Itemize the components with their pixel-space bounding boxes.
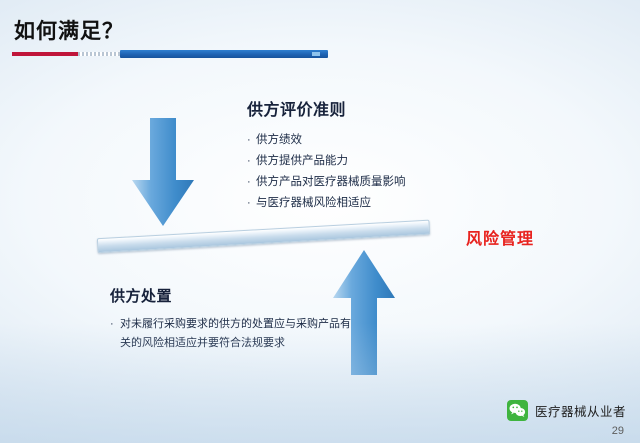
criteria-bullet-2: · 供方提供产品能力 <box>247 152 487 171</box>
criteria-bullet-3: · 供方产品对医疗器械质量影响 <box>247 173 487 192</box>
divider-red-segment <box>12 52 78 56</box>
page-title: 如何满足？ <box>14 15 124 45</box>
criteria-bullet-1-text: 供方绩效 <box>256 131 302 150</box>
slide-canvas: 如何满足？ <box>0 0 640 443</box>
wechat-icon <box>507 400 528 421</box>
wechat-account-name: 医疗器械从业者 <box>535 401 626 420</box>
risk-management-label: 风险管理 <box>466 225 534 249</box>
divider-end-dot <box>312 52 320 56</box>
title-divider <box>12 50 330 58</box>
bullet-dot-icon: · <box>110 315 120 334</box>
wechat-footer: 医疗器械从业者 <box>507 400 626 421</box>
bullet-dot-icon: · <box>247 152 256 171</box>
criteria-bullet-4-text: 与医疗器械风险相适应 <box>256 194 371 213</box>
bullet-dot-icon: · <box>247 131 256 150</box>
divider-blue-segment <box>120 50 328 58</box>
disposal-bullet: · 对未履行采购要求的供方的处置应与采购产品有关的风险相适应并要符合法规要求 <box>110 315 380 353</box>
page-number: 29 <box>612 425 624 437</box>
disposal-heading: 供方处置 <box>110 285 380 306</box>
criteria-bullet-4: · 与医疗器械风险相适应 <box>247 194 487 213</box>
criteria-block: 供方评价准则 · 供方绩效 · 供方提供产品能力 · 供方产品对医疗器械质量影响… <box>247 96 487 215</box>
bullet-dot-icon: · <box>247 173 256 192</box>
criteria-bullet-2-text: 供方提供产品能力 <box>256 152 348 171</box>
disposal-bullet-text: 对未履行采购要求的供方的处置应与采购产品有关的风险相适应并要符合法规要求 <box>120 315 356 353</box>
criteria-bullet-1: · 供方绩效 <box>247 131 487 150</box>
arrow-down-icon <box>130 118 196 228</box>
criteria-heading: 供方评价准则 <box>247 96 487 120</box>
bullet-dot-icon: · <box>247 194 256 213</box>
disposal-block: 供方处置 · 对未履行采购要求的供方的处置应与采购产品有关的风险相适应并要符合法… <box>110 285 380 353</box>
criteria-bullet-3-text: 供方产品对医疗器械质量影响 <box>256 173 406 192</box>
divider-hatch-segment <box>78 52 120 56</box>
